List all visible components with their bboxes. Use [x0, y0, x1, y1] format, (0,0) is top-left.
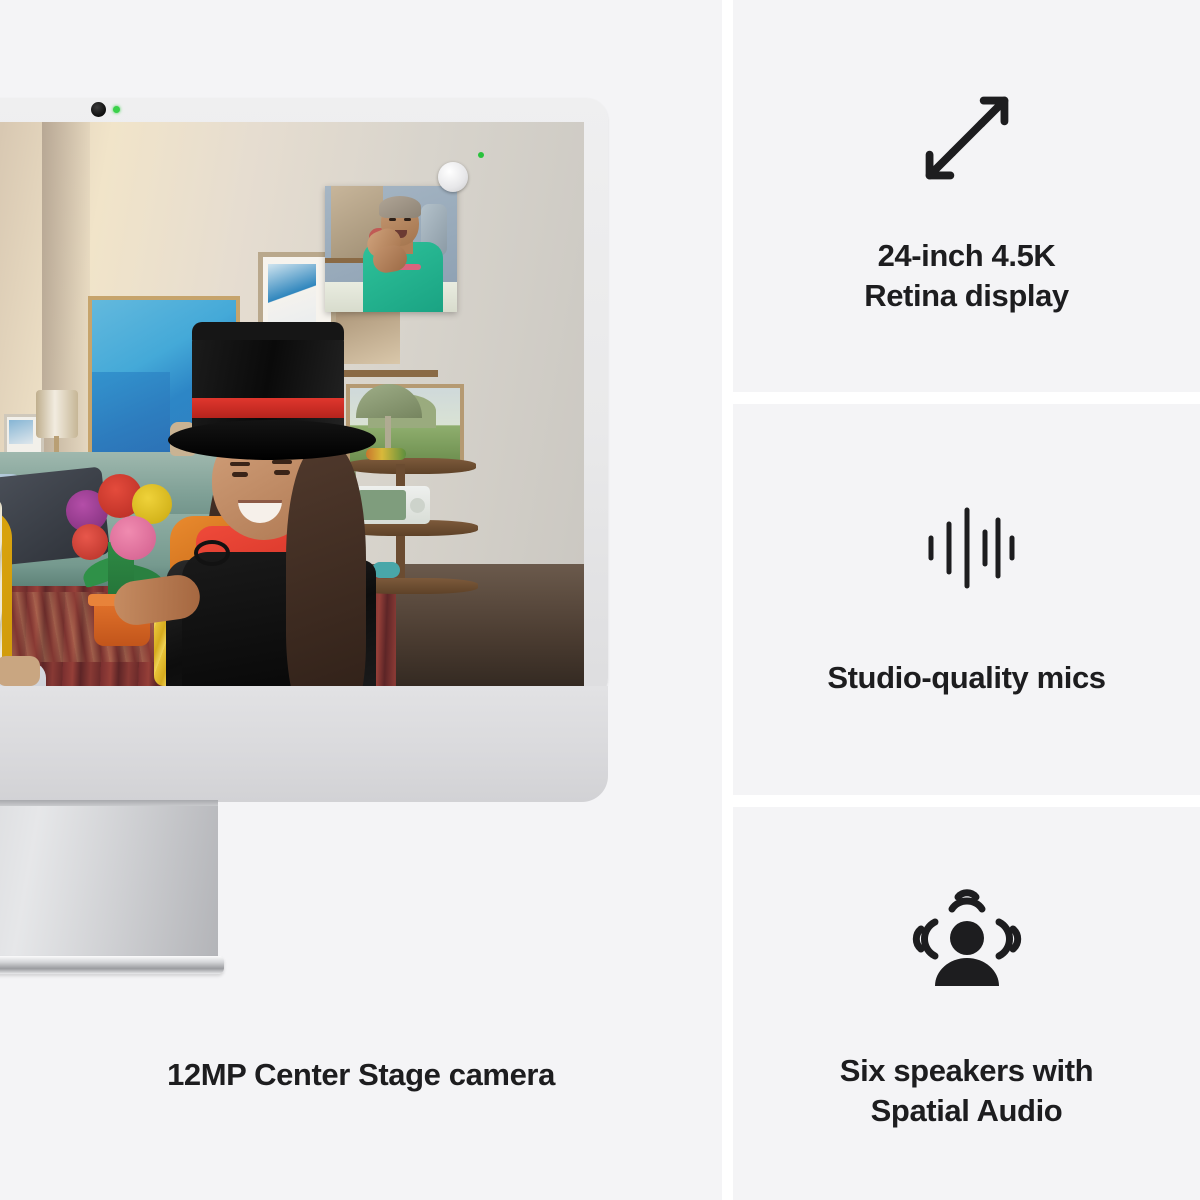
- scene-flower: [110, 516, 156, 560]
- scene-girl-top-hat-brim: [168, 420, 376, 460]
- speakers-caption: Six speakers with Spatial Audio: [840, 1051, 1093, 1130]
- imac-stand-highlight: [0, 800, 218, 806]
- pip-person-hair: [379, 196, 421, 218]
- feature-grid: 12MP Center Stage camera 24-inch 4.5K Re…: [0, 0, 1200, 1200]
- spatial-audio-person-icon: [907, 882, 1027, 1002]
- scene-desk-frame-photo: [9, 420, 33, 444]
- scene-girl-top-hat-band: [192, 398, 344, 418]
- display-feature-content: 24-inch 4.5K Retina display: [733, 84, 1200, 315]
- scene-teal-object: [372, 562, 400, 578]
- imac-screen: [0, 122, 584, 686]
- facetime-pip-window[interactable]: [325, 186, 457, 312]
- scene-blue-canvas-shade: [92, 372, 170, 452]
- feature-card-display[interactable]: 24-inch 4.5K Retina display: [733, 0, 1200, 392]
- facetime-control-button[interactable]: [438, 162, 468, 192]
- scene-side-table-top: [346, 458, 476, 474]
- mics-feature-content: Studio-quality mics: [733, 496, 1200, 698]
- audio-waveform-bars-icon: [917, 498, 1017, 598]
- imac-bezel: [0, 98, 608, 700]
- mics-icon-wrap: [917, 496, 1017, 600]
- speakers-icon-wrap: [907, 881, 1027, 1003]
- feature-card-camera[interactable]: 12MP Center Stage camera: [0, 0, 722, 1200]
- display-icon-wrap: [915, 84, 1019, 192]
- scene-girl-cape-clasp: [194, 540, 230, 566]
- camera-caption: 12MP Center Stage camera: [0, 1055, 722, 1095]
- feature-card-speakers[interactable]: Six speakers with Spatial Audio: [733, 807, 1200, 1200]
- scene-girl-brow: [272, 460, 292, 464]
- mics-caption: Studio-quality mics: [827, 658, 1105, 698]
- scene-radio-speaker: [358, 490, 406, 520]
- pip-person-eye: [404, 218, 411, 221]
- feature-card-mics[interactable]: Studio-quality mics: [733, 404, 1200, 795]
- scene-girl-top-hat-top: [192, 322, 344, 340]
- imac-chin: [0, 686, 608, 802]
- display-caption: 24-inch 4.5K Retina display: [864, 236, 1069, 315]
- scene-fruit-bowl: [366, 448, 406, 460]
- scene-girl-hair-side: [286, 446, 366, 686]
- imac-stand-foot: [0, 956, 224, 974]
- speakers-feature-content: Six speakers with Spatial Audio: [733, 881, 1200, 1130]
- scene-woman-foot: [0, 656, 40, 686]
- screen-corner-led-icon: [478, 152, 484, 158]
- scene-radio-knob: [410, 498, 425, 513]
- imac-stand: [0, 800, 218, 960]
- scene-flower: [72, 524, 108, 560]
- imac-camera-icon: [91, 102, 106, 117]
- diagonal-resize-arrows-icon: [915, 86, 1019, 190]
- imac-illustration: [0, 98, 608, 978]
- scene-girl-brow: [230, 462, 250, 466]
- scene-girl-eye: [274, 470, 290, 475]
- scene-floor-lamp-shade: [36, 390, 78, 438]
- scene-girl-eye: [232, 472, 248, 477]
- pip-person-eye: [389, 218, 396, 221]
- camera-status-led-icon: [113, 106, 120, 113]
- scene-wall-shelf: [330, 370, 438, 377]
